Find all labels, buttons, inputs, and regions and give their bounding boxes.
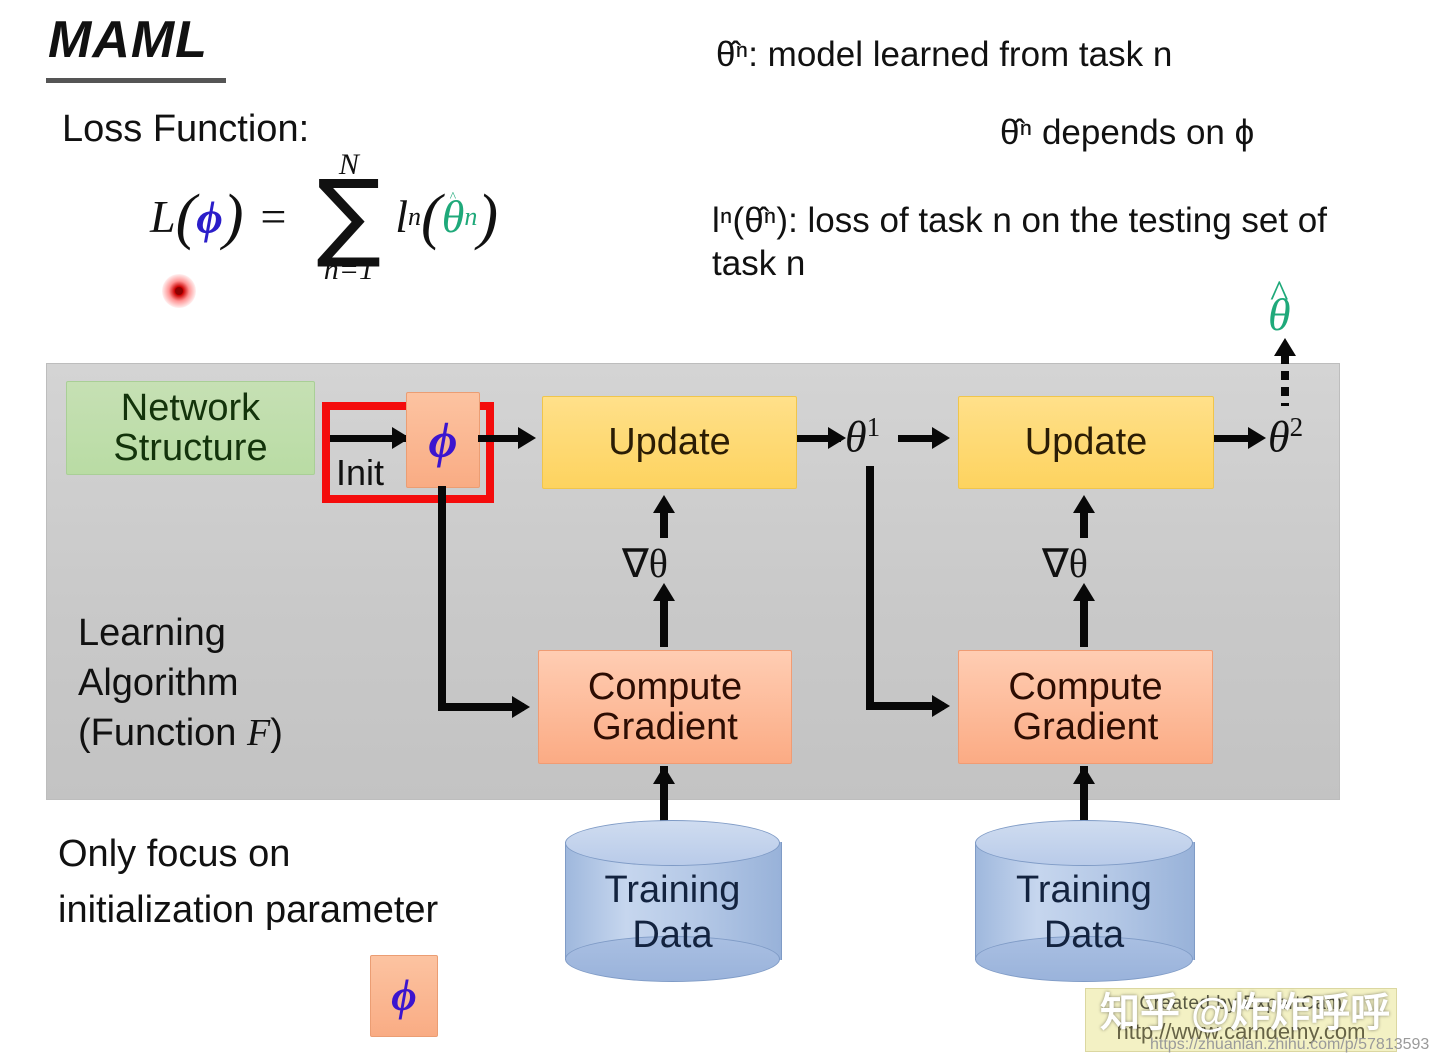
equation-inner-open-paren: ( (421, 186, 442, 248)
zhihu-watermark: 知乎 @炸炸呼呼 (1100, 980, 1390, 1038)
hat-accent-icon: ^ (1270, 272, 1288, 317)
arrow-head-traindata1-to-cg1 (653, 766, 675, 784)
arrow-line-nabla2-lower (1080, 595, 1088, 647)
arrow-head-theta1-to-cg2 (932, 695, 950, 717)
title-underline (46, 78, 226, 83)
arrow-head-update2-to-theta2 (1248, 427, 1266, 449)
training-data-2-line2: Data (975, 913, 1193, 958)
phi-parameter-box-bottom[interactable]: ϕ (370, 955, 438, 1037)
compute-gradient-1-line1: Compute (588, 667, 742, 707)
network-structure-line1: Network (113, 388, 267, 428)
summation-lower-limit: n=1 (324, 255, 374, 285)
arrow-head-phi-to-cg1 (512, 696, 530, 718)
update-box-1[interactable]: Update (542, 396, 797, 489)
theta-1-label: θ1 (845, 414, 880, 460)
summation-sigma-icon: ∑ (317, 176, 382, 255)
network-structure-box[interactable]: Network Structure (66, 381, 315, 475)
dotted-arrow-line-theta2-to-thetahat (1281, 352, 1289, 406)
equation-open-paren: ( (176, 186, 197, 248)
hat-accent-icon: ^ (450, 189, 456, 205)
nabla-theta-label-2: ∇θ (1042, 540, 1088, 587)
learning-algorithm-line2: Algorithm (78, 658, 283, 708)
arrow-line-phi-down (438, 486, 446, 710)
cylinder-top-ellipse (565, 820, 780, 866)
init-label: Init (336, 452, 384, 494)
red-pointer-dot-icon (162, 274, 196, 308)
theta-hat-output-label: ^ θ (1268, 288, 1291, 341)
note-theta-definition: θ̂ⁿ: model learned from task n (716, 34, 1172, 77)
training-data-cylinder-2[interactable]: Training Data (975, 820, 1193, 985)
arrow-head-nabla2-to-update2 (1073, 495, 1095, 513)
arrow-line-theta1-down (866, 466, 874, 709)
equation-theta-hat: ^ θ (442, 194, 465, 240)
function-prefix: (Function (78, 712, 247, 754)
theta-1-symbol: θ (845, 413, 867, 462)
compute-gradient-box-1[interactable]: Compute Gradient (538, 650, 792, 764)
equation-loss-term-superscript: n (408, 202, 421, 232)
theta-hat-glyph: ^ θ (1268, 288, 1291, 341)
training-data-1-line2: Data (565, 913, 780, 958)
arrow-head-phi-to-update1 (518, 427, 536, 449)
theta-2-label: θ2 (1268, 414, 1303, 460)
arrow-head-update1-to-theta1 (828, 427, 846, 449)
arrow-line-nabla1-lower (660, 595, 668, 647)
arrow-head-nabla1-to-update1 (653, 495, 675, 513)
only-focus-caption: Only focus on initialization parameter (58, 826, 438, 938)
equation-equals-sign: = (258, 194, 289, 240)
equation-lhs-symbol: L (150, 194, 176, 240)
loss-function-equation: L ( ϕ ) = N ∑ n=1 l n ( ^ θ n ) (150, 150, 498, 285)
equation-phi-symbol: ϕ (196, 191, 223, 244)
theta-1-superscript: 1 (867, 412, 881, 442)
learning-algorithm-line3: (Function F) (78, 708, 283, 758)
function-symbol-F: F (247, 712, 270, 754)
training-data-2-line1: Training (975, 868, 1193, 913)
zhihu-url-watermark: https://zhuanlan.zhihu.com/p/57813593 (1150, 1036, 1429, 1054)
theta-2-symbol: θ (1268, 413, 1290, 462)
training-data-cylinder-1[interactable]: Training Data (565, 820, 780, 985)
arrow-head-theta1-to-update2 (932, 427, 950, 449)
equation-theta-superscript: n (464, 202, 477, 232)
phi-parameter-box[interactable]: ϕ (406, 392, 480, 488)
arrow-head-traindata2-to-cg2 (1073, 766, 1095, 784)
cylinder-top-ellipse (975, 820, 1193, 866)
compute-gradient-2-line1: Compute (1008, 667, 1162, 707)
arrow-line-nabla2-upper (1080, 511, 1088, 538)
slide-canvas: MAML Loss Function: L ( ϕ ) = N ∑ n=1 l … (0, 0, 1434, 1060)
summation-operator: N ∑ n=1 (317, 150, 382, 285)
learning-algorithm-caption: Learning Algorithm (Function F) (78, 608, 283, 758)
update-box-2-label: Update (1025, 422, 1148, 462)
equation-close-paren: ) (223, 186, 244, 248)
arrow-line-nabla1-upper (660, 511, 668, 538)
theta-2-superscript: 2 (1290, 412, 1304, 442)
training-data-2-label: Training Data (975, 868, 1193, 958)
training-data-1-label: Training Data (565, 868, 780, 958)
note-loss-definition: lⁿ(θ̂ⁿ): loss of task n on the testing s… (712, 200, 1332, 285)
learning-algorithm-line1: Learning (78, 608, 283, 658)
network-structure-line2: Structure (113, 428, 267, 468)
update-box-1-label: Update (608, 422, 731, 462)
equation-loss-term: l (395, 194, 408, 240)
phi-symbol: ϕ (429, 414, 458, 467)
compute-gradient-1-line2: Gradient (588, 707, 742, 747)
page-title: MAML (48, 10, 208, 70)
training-data-1-line1: Training (565, 868, 780, 913)
compute-gradient-2-line2: Gradient (1008, 707, 1162, 747)
phi-symbol: ϕ (391, 973, 416, 1020)
equation-inner-close-paren: ) (477, 186, 498, 248)
only-focus-line2: initialization parameter (58, 882, 438, 938)
loss-function-label: Loss Function: (62, 108, 309, 151)
only-focus-line1: Only focus on (58, 826, 438, 882)
note-theta-depends-on-phi: θ̂ⁿ depends on ϕ (1000, 112, 1254, 155)
nabla-theta-label-1: ∇θ (622, 540, 668, 587)
compute-gradient-box-2[interactable]: Compute Gradient (958, 650, 1213, 764)
update-box-2[interactable]: Update (958, 396, 1214, 489)
function-suffix: ) (270, 712, 283, 754)
